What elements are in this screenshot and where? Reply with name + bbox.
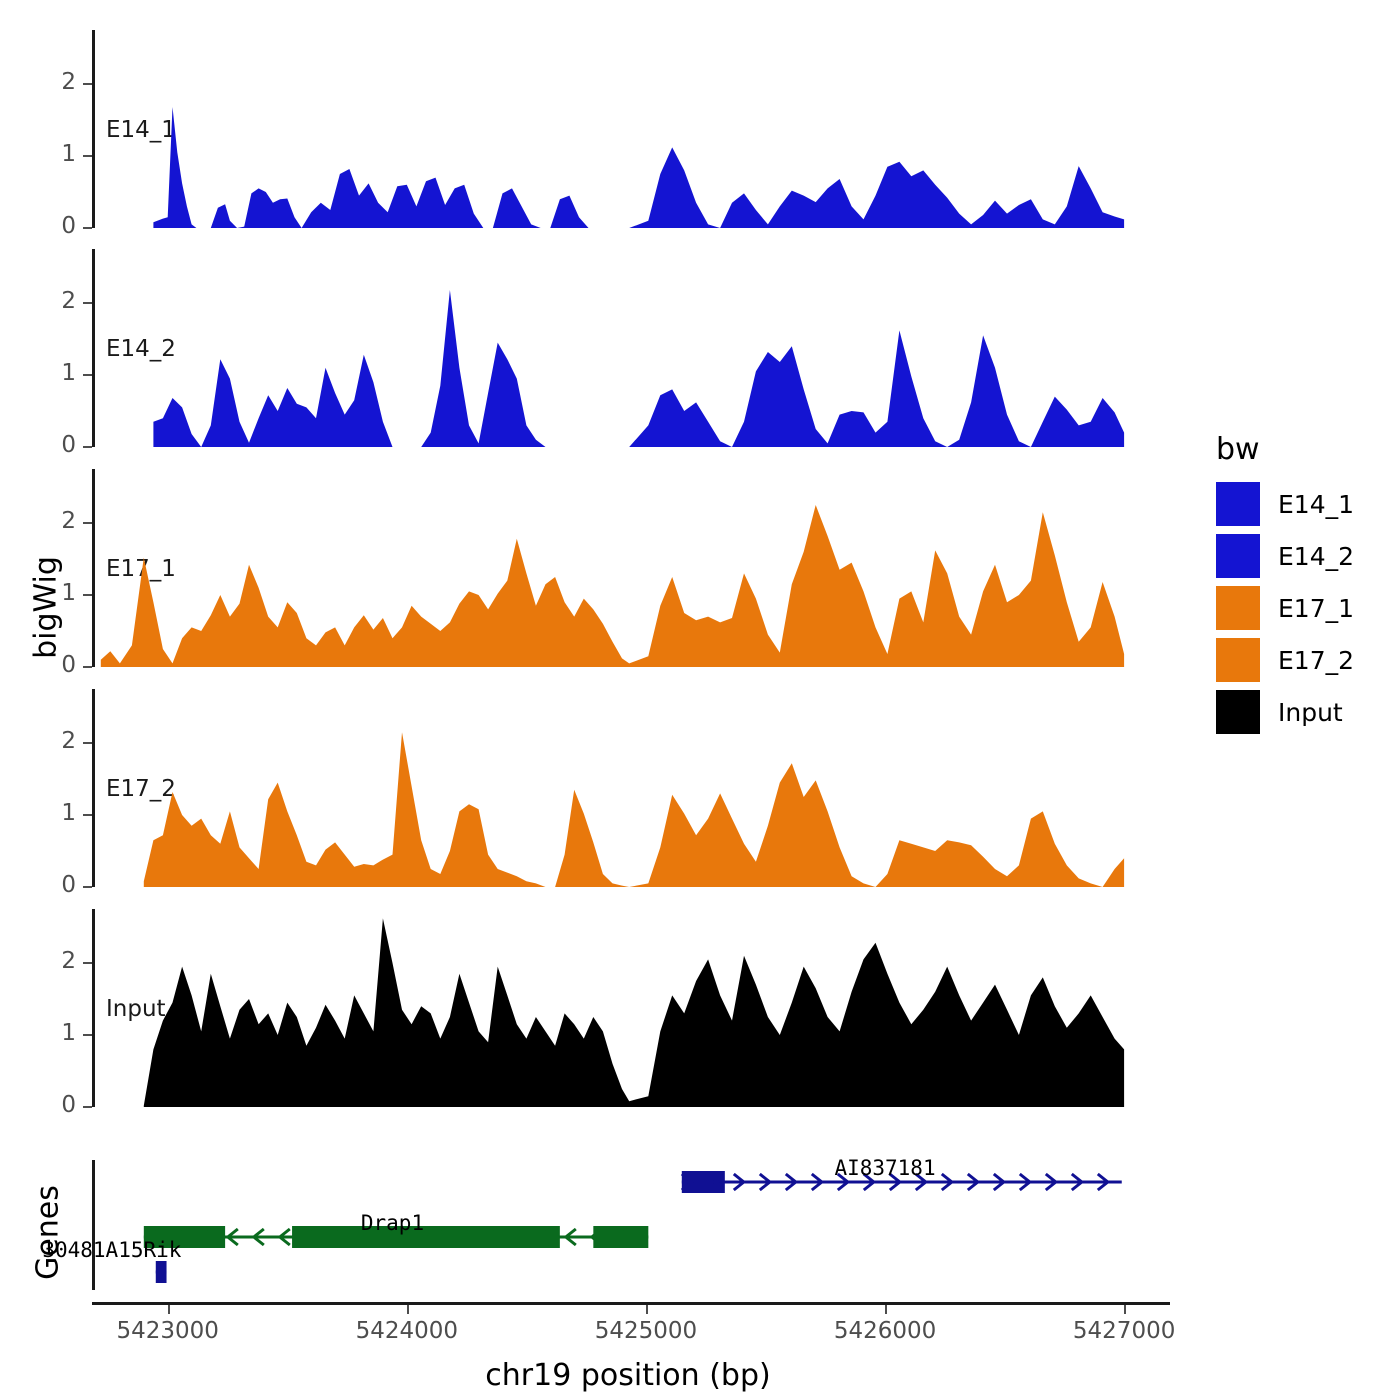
x-tick	[1124, 1305, 1126, 1314]
legend-label: E14_2	[1278, 542, 1354, 571]
x-tick	[885, 1305, 887, 1314]
genome-browser-figure: bigWig Genes 012E14_1012E14_2012E17_1012…	[0, 0, 1400, 1400]
legend-item-e14_2[interactable]: E14_2	[1216, 534, 1354, 578]
legend-item-e17_2[interactable]: E17_2	[1216, 638, 1354, 682]
x-axis-title: chr19 position (bp)	[485, 1358, 770, 1393]
legend-item-e17_1[interactable]: E17_1	[1216, 586, 1354, 630]
legend-item-e14_1[interactable]: E14_1	[1216, 482, 1354, 526]
gene-label: 30481A15Rik	[42, 1238, 181, 1262]
legend-color-swatch	[1216, 690, 1260, 734]
legend-color-swatch	[1216, 638, 1260, 682]
legend-label: E17_2	[1278, 646, 1354, 675]
gene-label: AI837181	[834, 1156, 935, 1180]
legend-item-input[interactable]: Input	[1216, 690, 1343, 734]
x-tick	[407, 1305, 409, 1314]
legend-label: E14_1	[1278, 490, 1354, 519]
x-tick-label: 5425000	[595, 1318, 697, 1344]
legend-label: Input	[1278, 698, 1343, 727]
legend-label: E17_1	[1278, 594, 1354, 623]
x-tick	[646, 1305, 648, 1314]
x-tick-label: 5424000	[356, 1318, 458, 1344]
legend-color-swatch	[1216, 586, 1260, 630]
x-tick	[168, 1305, 170, 1314]
legend-color-swatch	[1216, 534, 1260, 578]
x-tick-label: 5426000	[834, 1318, 936, 1344]
genes-svg	[0, 0, 1400, 1400]
gene-label: Drap1	[361, 1211, 424, 1235]
legend-title: bw	[1216, 432, 1260, 467]
x-axis-line	[92, 1302, 1170, 1305]
legend-color-swatch	[1216, 482, 1260, 526]
x-tick-label: 5423000	[117, 1318, 219, 1344]
gene-exon	[156, 1261, 167, 1283]
x-tick-label: 5427000	[1073, 1318, 1175, 1344]
